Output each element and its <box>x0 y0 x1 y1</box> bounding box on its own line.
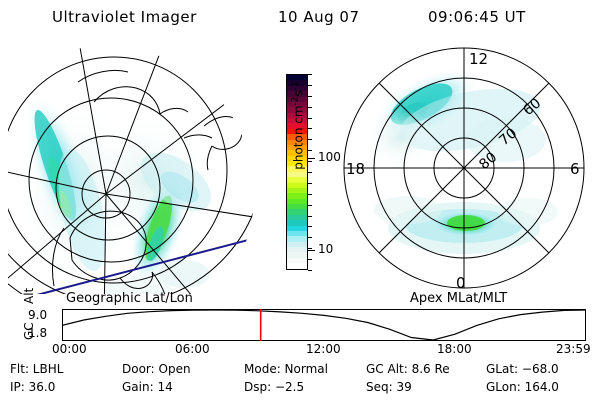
colorbar-minor-tick <box>308 270 312 271</box>
cb-unit-exp1: -2 <box>291 96 301 105</box>
apex-mlt-spokes <box>344 48 584 288</box>
strip-frame <box>63 310 586 341</box>
observation-time: 09:06:45 UT <box>428 8 526 26</box>
strip-ytick-high: 9.0 <box>28 308 47 322</box>
colorbar-minor-tick <box>308 259 312 260</box>
geographic-polar-image[interactable] <box>8 42 258 294</box>
colorbar-minor-tick <box>308 150 312 151</box>
colorbar-axis-label: photon cm-2s-1 <box>291 66 306 186</box>
strip-xtick-label: 18:00 <box>437 342 472 356</box>
colorbar-minor-tick <box>308 74 312 75</box>
strip-xtick-label: 06:00 <box>175 342 210 356</box>
mlt-label-18: 18 <box>346 160 365 178</box>
geo-plot-svg <box>8 42 258 294</box>
colorbar-minor-tick <box>308 118 312 119</box>
strip-xtick-label: 12:00 <box>306 342 341 356</box>
colorbar-minor-tick <box>308 183 312 184</box>
colorbar-minor-tick <box>308 85 312 86</box>
telemetry-status-bar: Flt: LBHL IP: 36.0 Door: Open Gain: 14 M… <box>0 360 600 400</box>
colorbar-minor-tick <box>308 194 312 195</box>
colorbar-minor-tick <box>308 216 312 217</box>
colorbar-major-tick <box>308 250 315 251</box>
colorbar-minor-tick <box>308 139 312 140</box>
apex-mlat-mlt-dial[interactable]: 12 6 0 18 60 70 80 <box>338 42 590 294</box>
cb-unit-s: s <box>292 90 306 96</box>
strip-altitude-trace <box>62 310 586 340</box>
strip-title-apex: Apex MLat/MLT <box>410 291 507 306</box>
colorbar-minor-tick <box>308 128 312 129</box>
status-glon: GLon: 164.0 <box>486 380 559 394</box>
strip-ytick-low: 1.8 <box>28 326 47 340</box>
colorbar-minor-tick <box>308 107 312 108</box>
status-door: Door: Open <box>122 362 191 376</box>
uvi-display: Ultraviolet Imager 10 Aug 07 09:06:45 UT <box>0 0 600 400</box>
geo-aurora-layer <box>11 88 221 294</box>
cb-unit-exp2: -1 <box>291 81 301 90</box>
apex-plot-svg: 12 6 0 18 60 70 80 <box>338 42 590 294</box>
colorbar-minor-tick <box>308 172 312 173</box>
status-dsp: Dsp: −2.5 <box>244 380 304 394</box>
status-glat: GLat: −68.0 <box>486 362 559 376</box>
colorbar-major-tick <box>308 158 315 159</box>
colorbar-minor-tick <box>308 205 312 206</box>
mlt-label-6: 6 <box>570 160 580 178</box>
strip-xtick-label: 00:00 <box>52 342 87 356</box>
colorbar-minor-tick <box>308 161 312 162</box>
status-seq: Seq: 39 <box>366 380 412 394</box>
colorbar-minor-tick <box>308 226 312 227</box>
header-bar: Ultraviolet Imager 10 Aug 07 09:06:45 UT <box>0 6 600 32</box>
colorbar-segment <box>287 263 307 268</box>
cb-unit-main: photon cm <box>292 105 306 169</box>
status-flt: Flt: LBHL <box>10 362 63 376</box>
colorbar-minor-tick <box>308 237 312 238</box>
mlt-label-12: 12 <box>469 50 488 68</box>
strip-ylabel-alt: Alt <box>22 288 36 304</box>
mlt-label-0: 0 <box>456 274 466 292</box>
instrument-title: Ultraviolet Imager <box>52 8 197 26</box>
colorbar-tick-label: 10 <box>318 242 333 256</box>
colorbar-minor-tick <box>308 96 312 97</box>
status-mode: Mode: Normal <box>244 362 328 376</box>
status-gain: Gain: 14 <box>122 380 173 394</box>
colorbar-ticks <box>308 74 316 270</box>
status-ip: IP: 36.0 <box>10 380 55 394</box>
strip-plot-svg <box>62 309 586 341</box>
status-gc-alt: GC Alt: 8.6 Re <box>366 362 450 376</box>
observation-date: 10 Aug 07 <box>278 8 360 26</box>
orbit-altitude-strip-chart[interactable]: Geographic Lat/Lon Apex MLat/MLT Alt GC … <box>0 292 600 354</box>
strip-xtick-label: 23:59 <box>556 342 591 356</box>
strip-title-geographic: Geographic Lat/Lon <box>66 291 193 306</box>
